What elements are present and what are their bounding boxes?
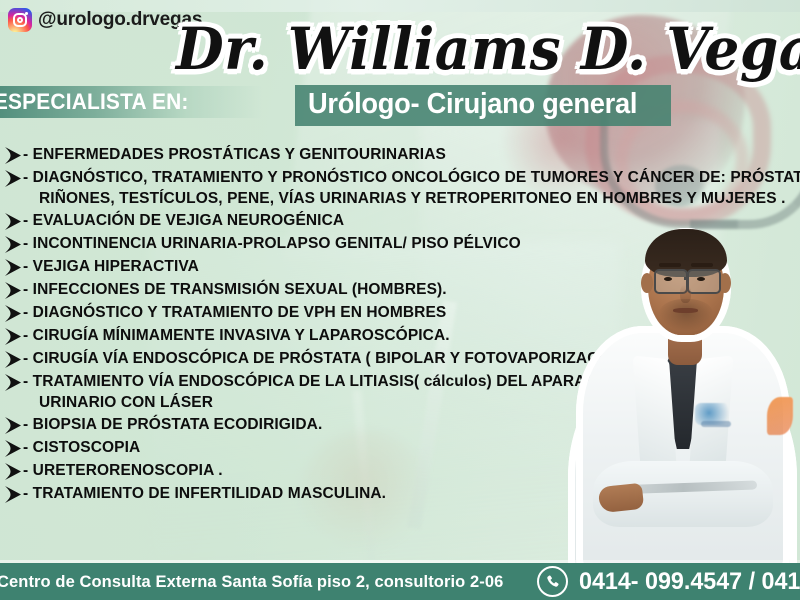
arrow-bullet-icon xyxy=(4,257,23,278)
list-item-label-continued: URINARIO CON LÁSER xyxy=(23,394,213,411)
instagram-handle[interactable]: @urologo.drvegas xyxy=(8,8,202,32)
list-item-label: - INFECCIONES DE TRANSMISIÓN SEXUAL (HOM… xyxy=(23,281,447,298)
doctor-mouth xyxy=(673,308,698,313)
arrow-bullet-icon xyxy=(4,145,23,166)
list-item-label: - CISTOSCOPIA xyxy=(23,439,140,456)
instagram-icon xyxy=(8,8,32,32)
list-item-label: - INCONTINENCIA URINARIA-PROLAPSO GENITA… xyxy=(23,235,521,252)
arrow-bullet-icon xyxy=(4,372,23,393)
arrow-bullet-icon xyxy=(4,168,23,189)
arrow-bullet-icon xyxy=(4,484,23,505)
doctor-eye-right xyxy=(697,277,705,281)
arrow-bullet-icon xyxy=(4,234,23,255)
doctor-eyebrow-right xyxy=(691,263,713,267)
arrow-bullet-icon xyxy=(4,280,23,301)
arrow-bullet-icon xyxy=(4,461,23,482)
list-item-label: - ENFERMEDADES PROSTÁTICAS Y GENITOURINA… xyxy=(23,146,446,163)
arrow-bullet-icon xyxy=(4,303,23,324)
list-item-label: - DIAGNÓSTICO, TRATAMIENTO Y PRONÓSTICO … xyxy=(23,169,800,186)
list-item: - DIAGNÓSTICO, TRATAMIENTO Y PRONÓSTICO … xyxy=(4,167,794,209)
list-item-label: - TRATAMIENTO VÍA ENDOSCÓPICA DE LA LITI… xyxy=(23,373,606,390)
list-item-label: - EVALUACIÓN DE VEJIGA NEUROGÉNICA xyxy=(23,212,344,229)
list-item-label: - VEJIGA HIPERACTIVA xyxy=(23,258,199,275)
coat-shoulder-patch xyxy=(767,397,793,435)
list-item-label: - DIAGNÓSTICO Y TRATAMIENTO DE VPH EN HO… xyxy=(23,304,446,321)
specialist-banner-label: ESPECIALISTA EN: xyxy=(0,89,189,115)
arrow-bullet-icon xyxy=(4,438,23,459)
list-item-label: - CIRUGÍA MÍNIMAMENTE INVASIVA Y LAPAROS… xyxy=(23,327,450,344)
footer-bar: Centro de Consulta Externa Santa Sofía p… xyxy=(0,563,800,600)
poster-root: @urologo.drvegas Dr. Williams D. Vegas C… xyxy=(0,0,800,600)
doctor-ear-left xyxy=(641,273,653,293)
doctor-portrait xyxy=(575,207,790,567)
list-item-label-continued: RIÑONES, TESTÍCULOS, PENE, VÍAS URINARIA… xyxy=(23,190,786,207)
list-item-label: - TRATAMIENTO DE INFERTILIDAD MASCULINA. xyxy=(23,485,386,502)
arrow-bullet-icon xyxy=(4,415,23,436)
list-item-label: - BIOPSIA DE PRÓSTATA ECODIRIGIDA. xyxy=(23,416,322,433)
list-item: - ENFERMEDADES PROSTÁTICAS Y GENITOURINA… xyxy=(4,144,794,166)
specialist-banner: ESPECIALISTA EN: xyxy=(0,86,262,118)
arrow-bullet-icon xyxy=(4,326,23,347)
coat-logo-text xyxy=(701,421,731,427)
list-item-label: - URETERORENOSCOPIA . xyxy=(23,462,223,479)
footer-phone-numbers[interactable]: 0414- 099.4547 / 0412-861.6055 xyxy=(579,568,800,596)
phone-icon xyxy=(537,566,568,597)
page-title: Dr. Williams D. Vegas C. xyxy=(176,14,786,84)
doctor-hand xyxy=(598,483,644,513)
specialty-banner-label: Urólogo- Cirujano general xyxy=(308,88,637,121)
doctor-eye-left xyxy=(664,277,672,281)
doctor-glasses-bridge xyxy=(684,277,689,280)
arrow-bullet-icon xyxy=(4,349,23,370)
specialty-banner: Urólogo- Cirujano general xyxy=(295,85,671,126)
doctor-eyebrow-left xyxy=(659,263,681,267)
doctor-glasses-right xyxy=(687,269,721,294)
footer-address: Centro de Consulta Externa Santa Sofía p… xyxy=(0,572,503,592)
arrow-bullet-icon xyxy=(4,211,23,232)
doctor-beard xyxy=(659,299,713,331)
list-item-label: - CIRUGÍA VÍA ENDOSCÓPICA DE PRÓSTATA ( … xyxy=(23,350,632,367)
